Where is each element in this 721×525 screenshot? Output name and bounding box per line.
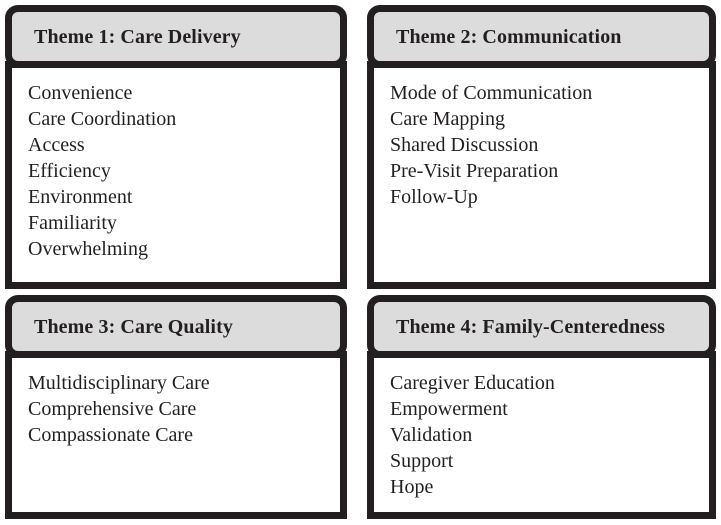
theme-panel-1: Theme 1: Care Delivery Convenience Care … <box>0 0 362 291</box>
theme-panel-1-title: Theme 1: Care Delivery <box>12 27 251 47</box>
list-item: Environment <box>28 184 330 210</box>
list-item: Multidisciplinary Care <box>28 370 330 396</box>
theme-panel-2-body: Mode of Communication Care Mapping Share… <box>367 61 716 289</box>
list-item: Pre-Visit Preparation <box>390 158 699 184</box>
list-item: Mode of Communication <box>390 80 699 106</box>
list-item: Shared Discussion <box>390 132 699 158</box>
theme-panel-3-item-list: Multidisciplinary Care Comprehensive Car… <box>12 358 340 448</box>
theme-panel-1-inner: Theme 1: Care Delivery Convenience Care … <box>5 5 347 289</box>
list-item: Support <box>390 448 699 474</box>
list-item: Empowerment <box>390 396 699 422</box>
list-item: Comprehensive Care <box>28 396 330 422</box>
thematic-framework-figure: Theme 1: Care Delivery Convenience Care … <box>0 0 721 525</box>
theme-panel-3-title: Theme 3: Care Quality <box>12 317 243 337</box>
list-item: Convenience <box>28 80 330 106</box>
list-item: Follow-Up <box>390 184 699 210</box>
theme-panel-4-item-list: Caregiver Education Empowerment Validati… <box>374 358 709 500</box>
theme-panel-1-item-list: Convenience Care Coordination Access Eff… <box>12 68 340 262</box>
list-item: Caregiver Education <box>390 370 699 396</box>
list-item: Care Coordination <box>28 106 330 132</box>
theme-panel-4-inner: Theme 4: Family-Centeredness Caregiver E… <box>367 295 716 519</box>
theme-panel-3-inner: Theme 3: Care Quality Multidisciplinary … <box>5 295 347 519</box>
list-item: Hope <box>390 474 699 500</box>
list-item: Validation <box>390 422 699 448</box>
theme-panel-4-title: Theme 4: Family-Centeredness <box>374 317 675 337</box>
theme-panel-1-header: Theme 1: Care Delivery <box>5 5 347 68</box>
theme-panel-4: Theme 4: Family-Centeredness Caregiver E… <box>362 291 721 525</box>
list-item: Overwhelming <box>28 236 330 262</box>
list-item: Access <box>28 132 330 158</box>
theme-panel-2-inner: Theme 2: Communication Mode of Communica… <box>367 5 716 289</box>
list-item: Efficiency <box>28 158 330 184</box>
theme-panel-4-header: Theme 4: Family-Centeredness <box>367 295 716 358</box>
theme-panel-2: Theme 2: Communication Mode of Communica… <box>362 0 721 291</box>
theme-panel-3-header: Theme 3: Care Quality <box>5 295 347 358</box>
theme-panel-grid: Theme 1: Care Delivery Convenience Care … <box>0 0 721 525</box>
theme-panel-1-body: Convenience Care Coordination Access Eff… <box>5 61 347 289</box>
theme-panel-3: Theme 3: Care Quality Multidisciplinary … <box>0 291 362 525</box>
theme-panel-2-header: Theme 2: Communication <box>367 5 716 68</box>
list-item: Care Mapping <box>390 106 699 132</box>
theme-panel-3-body: Multidisciplinary Care Comprehensive Car… <box>5 351 347 519</box>
theme-panel-2-item-list: Mode of Communication Care Mapping Share… <box>374 68 709 210</box>
theme-panel-4-body: Caregiver Education Empowerment Validati… <box>367 351 716 519</box>
theme-panel-2-title: Theme 2: Communication <box>374 27 632 47</box>
list-item: Compassionate Care <box>28 422 330 448</box>
list-item: Familiarity <box>28 210 330 236</box>
